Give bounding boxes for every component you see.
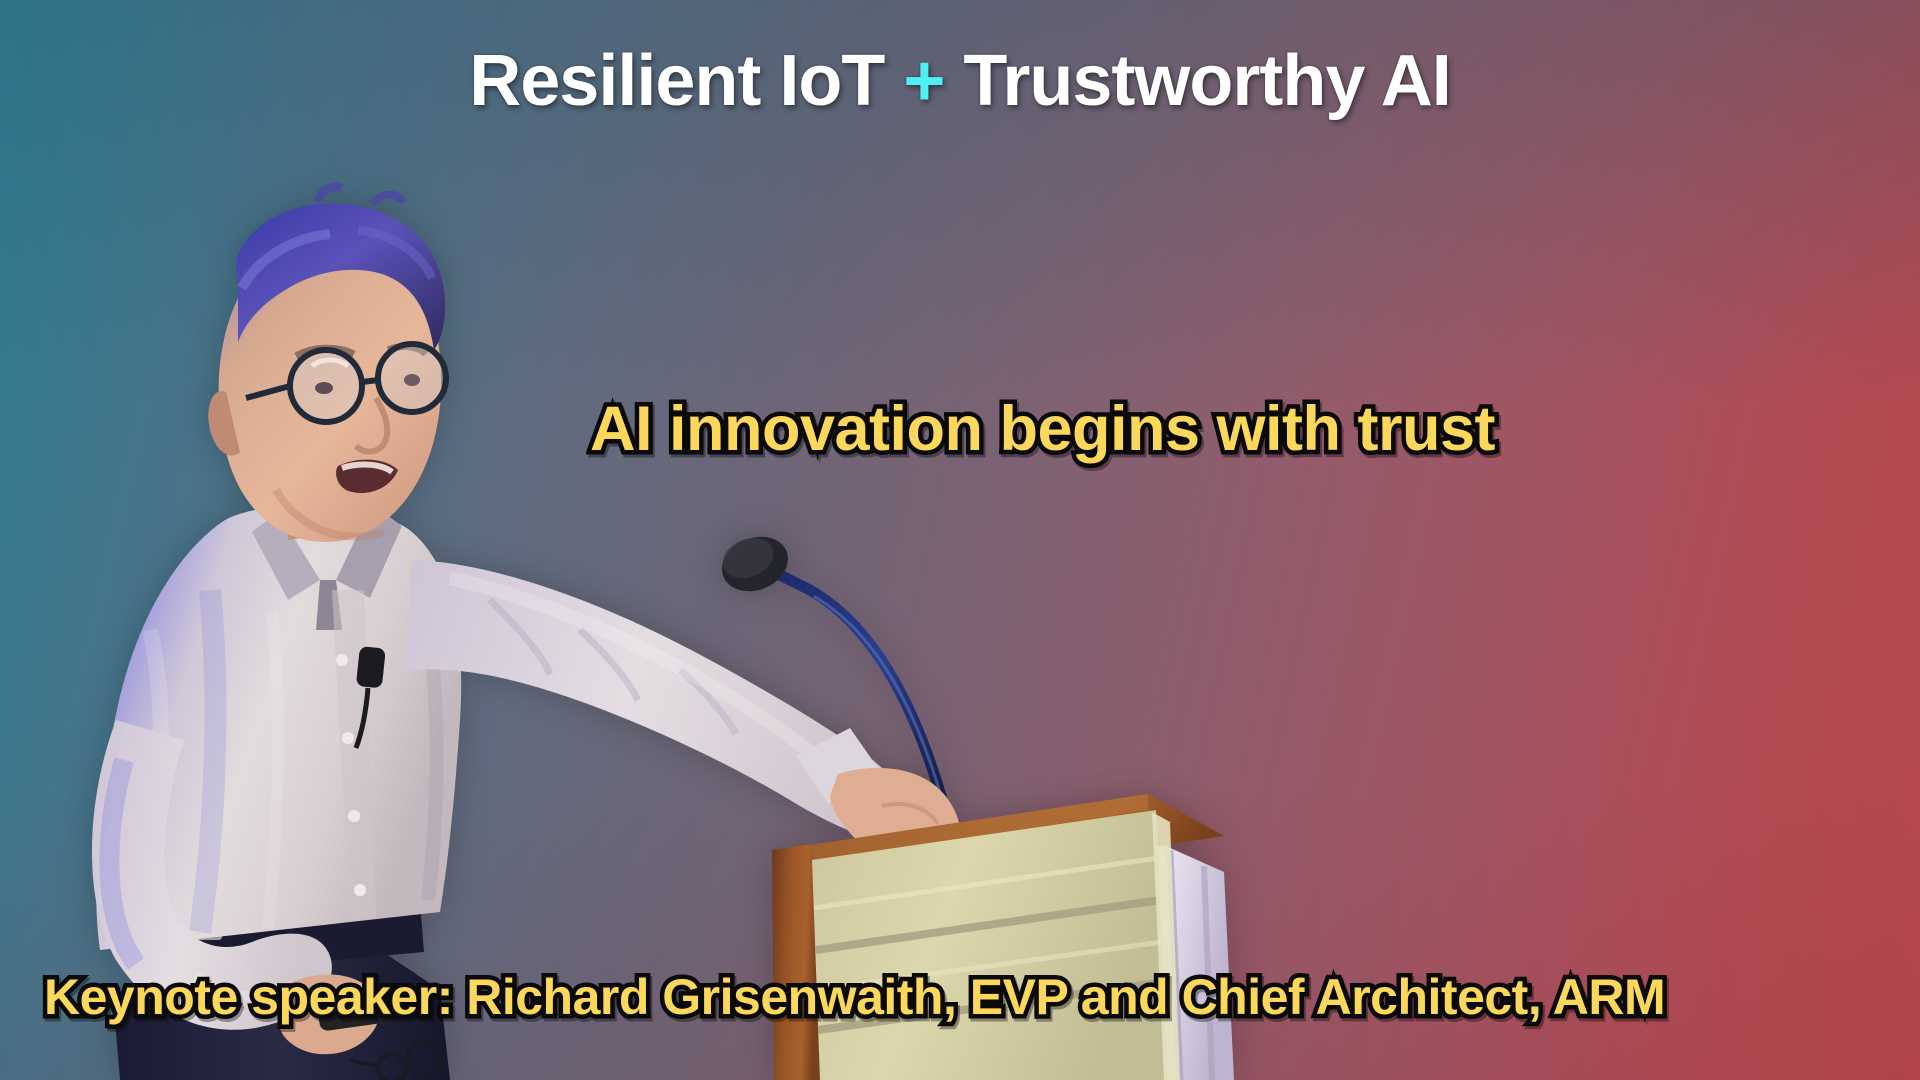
headline-part-two: Trustworthy AI	[944, 41, 1450, 121]
keynote-speaker-photo	[20, 160, 1420, 1080]
headline-part-one: Resilient IoT	[469, 41, 903, 121]
page-title: Resilient IoT + Trustworthy AI	[0, 40, 1920, 122]
lectern	[772, 794, 1234, 1080]
plus-symbol: +	[903, 41, 944, 121]
slide-canvas: Resilient IoT + Trustworthy AI AI innova…	[0, 0, 1920, 1080]
speaker-caption: Keynote speaker: Richard Grisenwaith, EV…	[44, 968, 1665, 1026]
tagline-text: AI innovation begins with trust	[590, 393, 1495, 465]
